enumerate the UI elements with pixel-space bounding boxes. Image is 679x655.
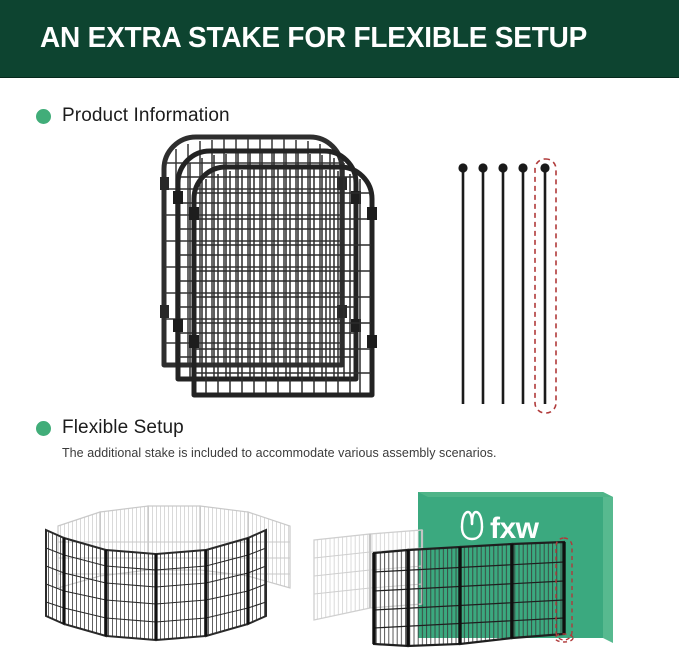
bullet-dot-icon [36, 109, 51, 124]
fence-panel-middle [173, 151, 361, 379]
section-subtitle: The additional stake is included to acco… [62, 446, 497, 460]
stake-2 [478, 163, 487, 404]
octagonal-playpen-illustration [28, 488, 328, 653]
section-title-text: Flexible Setup [62, 417, 184, 439]
header-banner: AN EXTRA STAKE FOR FLEXIBLE SETUP [0, 0, 679, 78]
green-backdrop-side [603, 492, 613, 643]
page-title: AN EXTRA STAKE FOR FLEXIBLE SETUP [40, 22, 587, 55]
stake-5-extra [540, 163, 549, 404]
green-backdrop-top [418, 492, 613, 497]
section-title-text: Product Information [62, 105, 230, 127]
section-heading-flexible-setup: Flexible Setup [36, 417, 184, 439]
section-heading-product-information: Product Information [36, 105, 230, 127]
stake-4 [518, 163, 527, 404]
fence-panels-solid [374, 542, 564, 646]
stakes-row-illustration [455, 155, 580, 417]
stake-1 [458, 163, 467, 404]
fxw-logo-text: fxw [490, 512, 540, 545]
stacked-fence-panels-illustration [160, 133, 390, 405]
stake-3 [498, 163, 507, 404]
bullet-dot-icon [36, 421, 51, 436]
straight-fence-scene-illustration: fxw [300, 478, 679, 655]
